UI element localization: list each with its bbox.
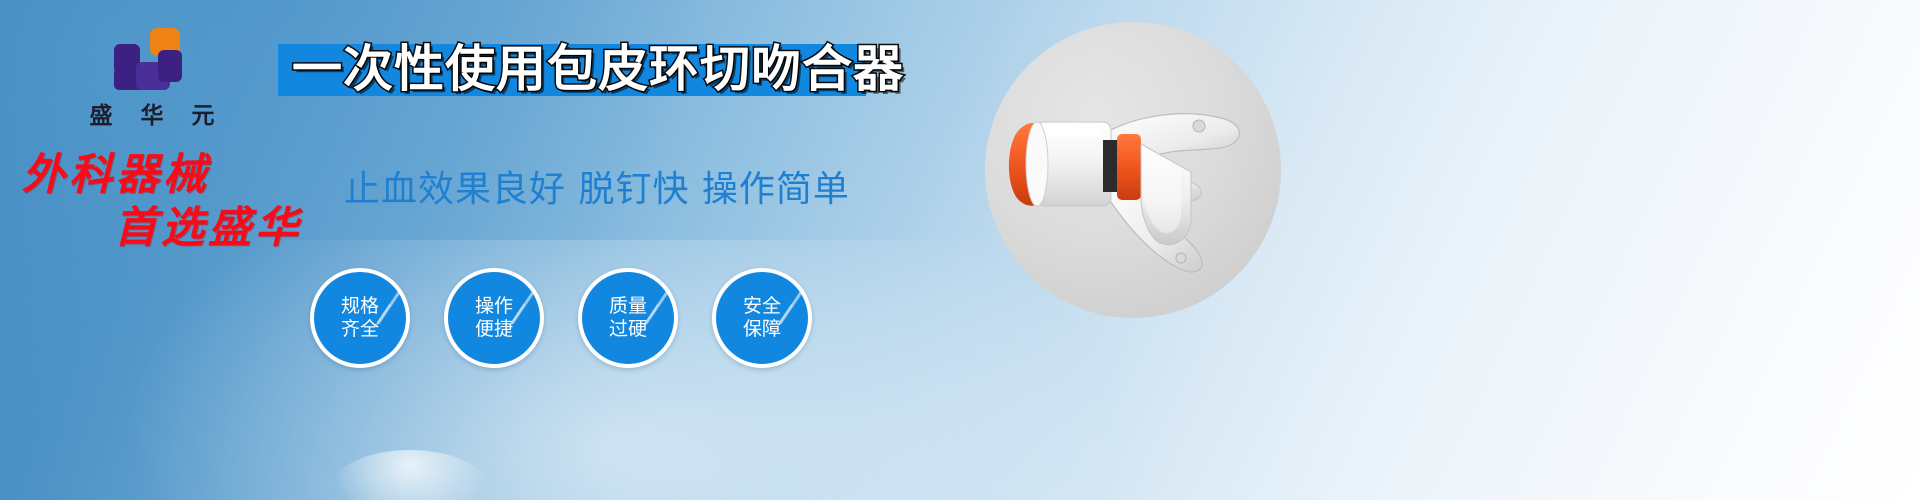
badge-spec[interactable]: 规格 齐全 — [310, 268, 410, 368]
stapler-cylinder-highlight — [1045, 128, 1099, 138]
stapler-cylinder-rear-cap — [1026, 122, 1048, 206]
brand-slogan-line2: 首选盛华 — [114, 205, 352, 252]
product-illustration — [985, 22, 1281, 318]
logo-mark-icon — [114, 28, 190, 90]
badge-quality[interactable]: 质量 过硬 — [578, 268, 678, 368]
feature-tagline: 止血效果良好 脱钉快 操作简单 — [344, 168, 850, 212]
brand-slogan: 外科器械 首选盛华 — [22, 152, 352, 252]
feature-badge-list: 规格 齐全 操作 便捷 质量 过硬 安全 保障 — [310, 268, 812, 368]
badge-label: 规格 齐全 — [341, 295, 379, 341]
stapler-orange-collar — [1117, 134, 1141, 200]
brand-slogan-line1: 外科器械 — [22, 150, 210, 200]
badge-label: 质量 过硬 — [609, 295, 647, 341]
background-swirl — [330, 450, 490, 500]
page-title: 一次性使用包皮环切吻合器 — [292, 38, 904, 100]
stapler-pivot-hole-lower — [1176, 253, 1186, 263]
promo-banner: 盛 华 元 一次性使用包皮环切吻合器 外科器械 首选盛华 止血效果良好 脱钉快 … — [0, 0, 1920, 500]
stapler-pivot-hole-upper — [1193, 120, 1205, 132]
badge-label: 安全 保障 — [743, 295, 781, 341]
badge-label: 操作 便捷 — [475, 295, 513, 341]
brand-name-text: 盛 华 元 — [62, 96, 242, 130]
badge-safety[interactable]: 安全 保障 — [712, 268, 812, 368]
product-image — [985, 22, 1281, 318]
brand-logo: 盛 华 元 — [62, 28, 242, 130]
logo-block-right — [158, 50, 182, 82]
badge-operate[interactable]: 操作 便捷 — [444, 268, 544, 368]
stapler-dark-band — [1103, 140, 1119, 192]
